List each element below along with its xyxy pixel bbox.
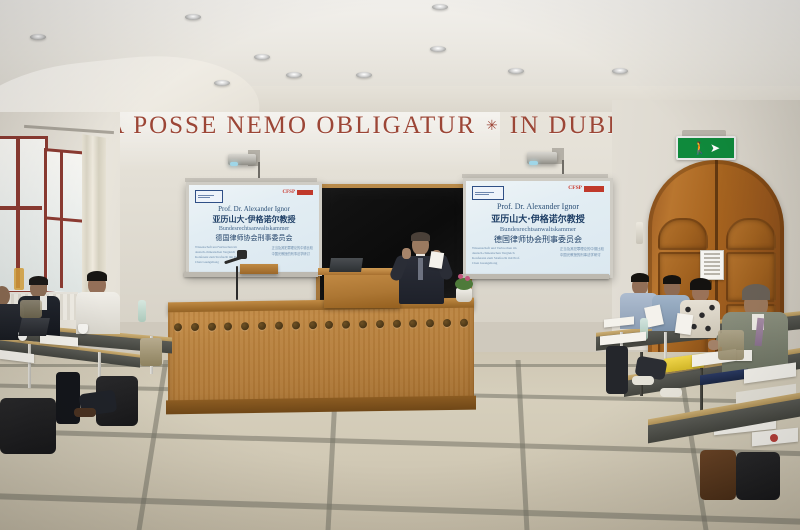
bench-stud-icon xyxy=(376,320,384,328)
plant-foliage xyxy=(455,278,473,290)
attendee-hair xyxy=(690,278,711,290)
shoe xyxy=(632,376,654,385)
ceiling-light-icon xyxy=(356,72,372,78)
slide-name-chinese: 亚历山大·伊格诺尔教授 xyxy=(212,214,295,225)
water-bottle xyxy=(138,300,146,322)
bag xyxy=(736,452,780,500)
bench-stud-icon xyxy=(191,323,199,331)
plant-flower xyxy=(458,274,463,279)
footer-line: Konferenz zum Strafrecht mit Prof. xyxy=(472,256,520,260)
bench-stud-icon xyxy=(292,321,300,329)
window-sill-object xyxy=(14,268,24,290)
coffee-cup xyxy=(78,324,88,334)
footer-line: deutsch-chinesischen Vergleich xyxy=(195,250,240,254)
chair xyxy=(718,330,744,360)
footer-line: Chen Guangzhong xyxy=(472,261,520,265)
left-slide: CFSP Prof. Dr. Alexander Ignor 亚历山大·伊格诺尔… xyxy=(189,185,319,273)
bench-stud-icon xyxy=(258,322,266,330)
bench-stud-icon xyxy=(208,323,216,331)
footer-line: Wissenschaft und Verbrechen im xyxy=(472,246,520,250)
leather-bag xyxy=(700,450,736,500)
microphone-stand xyxy=(236,266,238,300)
exit-arrow-icon: ➤ xyxy=(710,142,720,154)
bench-stud-icon xyxy=(443,319,451,327)
laptop xyxy=(329,258,363,272)
left-slide-body: Prof. Dr. Alexander Ignor 亚历山大·伊格诺尔教授 Bu… xyxy=(195,203,313,245)
slide-org-chinese: 德国律师协会刑事委员会 xyxy=(494,234,582,245)
attendee-hair xyxy=(87,271,107,281)
bench-stud-icon xyxy=(241,322,249,330)
bench-stud-icon xyxy=(393,320,401,328)
chair xyxy=(140,338,162,366)
presenter-hair xyxy=(411,232,430,241)
left-projection-screen: CFSP Prof. Dr. Alexander Ignor 亚历山大·伊格诺尔… xyxy=(186,182,322,276)
window xyxy=(0,136,48,294)
slide-org-chinese: 德国律师协会刑事委员会 xyxy=(216,233,293,243)
bench-stud-icon xyxy=(342,321,350,329)
lectern xyxy=(324,272,400,308)
door-notice xyxy=(700,250,724,280)
right-slide-logos: CFSP xyxy=(472,186,604,200)
footer-right-column: 正当及其犯罪理论的中德比较 中国光教授的刑事法学研讨 xyxy=(272,245,313,264)
presenter-tie xyxy=(418,258,423,280)
door-panel xyxy=(658,218,708,250)
right-slide-body: Prof. Dr. Alexander Ignor 亚历山大·伊格诺尔教授 Bu… xyxy=(472,200,604,246)
conference-logo-blue-icon xyxy=(195,190,223,203)
left-projector-lens-icon xyxy=(230,162,238,166)
left-slide-logos: CFSP xyxy=(195,190,313,203)
chair xyxy=(20,300,42,318)
slide-name-latin: Prof. Dr. Alexander Ignor xyxy=(497,202,579,211)
footer-left-column: Wissenschaft und Verbrechen im deutsch-c… xyxy=(472,246,520,265)
bench-small-desk xyxy=(240,264,278,274)
bench-stud-icon xyxy=(460,319,468,327)
right-screen-surface: CFSP Prof. Dr. Alexander Ignor 亚历山大·伊格诺尔… xyxy=(466,181,610,275)
emergency-exit-sign: 🚶 ➤ xyxy=(676,136,736,160)
plant-flower xyxy=(465,276,470,281)
partner-logo-red-icon: CFSP xyxy=(283,190,314,195)
running-man-icon: 🚶 xyxy=(692,142,707,154)
footer-line: deutsch-chinesischen Vergleich xyxy=(472,251,520,255)
bench-stud-icon xyxy=(224,322,232,330)
bench-stud-icon xyxy=(174,323,182,331)
shoe xyxy=(74,408,96,417)
ceiling-light-icon xyxy=(508,68,524,74)
ceiling-light-icon xyxy=(432,4,448,10)
slide-org-latin: Bundesrechtsanwaltskammer xyxy=(500,226,576,233)
ceiling-light-icon xyxy=(430,46,446,52)
presenter-notes xyxy=(429,251,444,269)
bench-stud-icon xyxy=(409,319,417,327)
attendee-legs xyxy=(606,346,628,394)
backpack xyxy=(0,398,56,454)
bench-stud-icon xyxy=(275,322,283,330)
ceiling-light-icon xyxy=(185,14,201,20)
laptop xyxy=(18,318,50,336)
ceiling-light-icon xyxy=(286,72,302,78)
footer-line: 中国光教授的刑事法学研讨 xyxy=(560,252,604,257)
right-projection-screen: CFSP Prof. Dr. Alexander Ignor 亚历山大·伊格诺尔… xyxy=(463,178,613,278)
right-projector-lens-icon xyxy=(529,161,538,165)
footer-line: 正当及其犯罪理论的中德比较 xyxy=(272,245,313,250)
slide-name-latin: Prof. Dr. Alexander Ignor xyxy=(218,205,290,213)
microphone-head-icon xyxy=(237,250,247,259)
bench-stud-icon xyxy=(359,320,367,328)
presenter-left-hand xyxy=(402,248,411,259)
footer-line: 正当及其犯罪理论的中德比较 xyxy=(560,246,604,251)
ceiling-light-icon xyxy=(30,34,46,40)
table-leg xyxy=(28,344,31,388)
ceiling-light-icon xyxy=(612,68,628,74)
right-slide-footer: Wissenschaft und Verbrechen im deutsch-c… xyxy=(472,246,604,270)
right-slide: CFSP Prof. Dr. Alexander Ignor 亚历山大·伊格诺尔… xyxy=(466,181,610,275)
footer-line: 中国光教授的刑事法学研讨 xyxy=(272,251,313,256)
papers xyxy=(675,313,694,335)
attendee-hair xyxy=(742,284,770,300)
slide-org-latin: Bundesrechtsanwaltskammer xyxy=(219,226,289,232)
window-mullion xyxy=(16,136,20,288)
partner-logo-red-icon: CFSP xyxy=(568,186,604,192)
window-mullion xyxy=(0,206,42,210)
attendee-hair xyxy=(29,276,48,285)
door-panel xyxy=(726,218,776,250)
attendee-hair xyxy=(631,273,649,282)
attendee-hair xyxy=(663,275,681,284)
footer-line: Wissenschaft und Verbrechen im xyxy=(195,245,240,249)
document-seal-icon xyxy=(770,434,778,442)
bench-stud-icon xyxy=(309,321,317,329)
conference-logo-blue-icon xyxy=(472,186,504,200)
slide-name-chinese: 亚历山大·伊格诺尔教授 xyxy=(491,212,584,225)
inscription-star-icon: ✳ xyxy=(486,118,500,135)
lecture-hall-photo: ULTRA POSSE NEMO OBLIGATUR ✳ IN DUBIO PR… xyxy=(0,0,800,530)
shoe xyxy=(660,388,682,397)
ceiling-light-icon xyxy=(254,54,270,60)
right-screen-bottom-bar xyxy=(461,274,609,279)
wall-lamp-icon xyxy=(636,222,643,244)
footer-right-column: 正当及其犯罪理论的中德比较 中国光教授的刑事法学研讨 xyxy=(560,246,604,265)
bench-stud-icon xyxy=(426,319,434,327)
plant-pot xyxy=(456,288,472,302)
ceiling-light-icon xyxy=(214,80,230,86)
left-screen-surface: CFSP Prof. Dr. Alexander Ignor 亚历山大·伊格诺尔… xyxy=(189,185,319,273)
bench-stud-icon xyxy=(325,321,333,329)
